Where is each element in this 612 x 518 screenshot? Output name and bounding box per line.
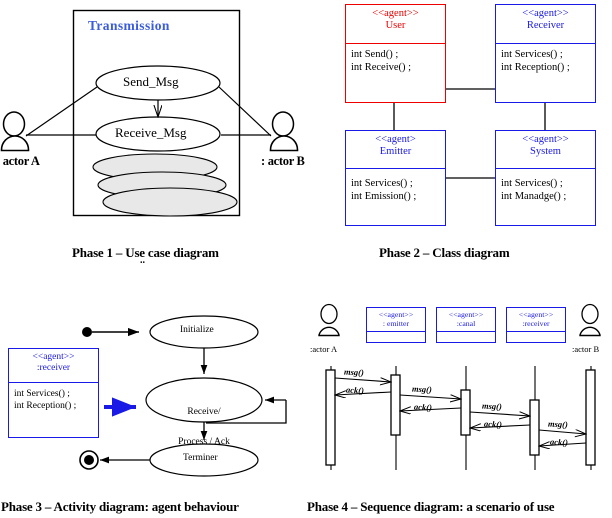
- lifeline-header-receiver: <<agent>> :receiver: [507, 308, 565, 332]
- message-label-msg-1: msg(): [344, 366, 364, 377]
- class-operation: int Services() ;: [501, 177, 590, 190]
- class-name-system: System: [496, 146, 595, 158]
- lifeline-head-receiver[interactable]: <<agent>> :receiver: [506, 307, 566, 343]
- lifeline-head-canal[interactable]: <<agent>> :canal: [436, 307, 496, 343]
- class-name-emitter: Emitter: [346, 146, 445, 158]
- activity-label-line2: Process / Ack: [170, 438, 238, 448]
- lifeline-stereotype: <<agent>>: [437, 310, 495, 320]
- message-label-ack-3: ack(): [484, 419, 502, 430]
- class-operations-receiver: int Services() ; int Reception() ;: [496, 44, 595, 74]
- class-box-user[interactable]: <<agent>> User int Send() ; int Receive(…: [345, 4, 446, 103]
- lifeline-header-canal: <<agent>> :canal: [437, 308, 495, 332]
- package-name-transmission: Transmission: [88, 19, 170, 33]
- actor-a-label: : actor A: [0, 155, 40, 168]
- class-box-receiver[interactable]: <<agent>> Receiver int Services() ; int …: [495, 4, 596, 103]
- class-stereotype-receiver: <<agent>>: [496, 8, 595, 20]
- class-operation: int Services() ;: [501, 48, 590, 61]
- lifeline-instance-name: :receiver: [507, 319, 565, 329]
- phase4-actor-b-label: :actor B: [572, 345, 599, 354]
- class-header-emitter: <<agent> Emitter: [346, 131, 445, 169]
- phase1-caption-artifact: ..: [140, 256, 145, 267]
- actor-b-figure: [271, 112, 298, 151]
- class-box-emitter[interactable]: <<agent> Emitter int Services() ; int Em…: [345, 130, 446, 226]
- class-operations-user: int Send() ; int Receive() ;: [346, 44, 445, 74]
- activity-label-initialize: Initialize: [180, 326, 214, 336]
- lifeline-instance-name: :canal: [437, 319, 495, 329]
- class-header-system: <<agent>> System: [496, 131, 595, 169]
- phase4-actor-b-figure: [580, 305, 600, 336]
- class-stereotype-system: <<agent>>: [496, 134, 595, 146]
- message-label-msg-2: msg(): [412, 383, 432, 394]
- use-case-label-receive-msg: Receive_Msg: [115, 126, 186, 140]
- class-operation: int Manadge() ;: [501, 190, 590, 203]
- class-operation: int Receive() ;: [351, 61, 440, 74]
- phase1-caption: Phase 1 – Use case diagram: [72, 246, 219, 260]
- class-operation: int Send() ;: [351, 48, 440, 61]
- lifeline-header-emitter: <<agent>> : emitter: [367, 308, 425, 332]
- agent-operation: int Services() ;: [14, 388, 93, 400]
- phase4-caption: Phase 4 – Sequence diagram: a scenario o…: [307, 500, 554, 514]
- activity-label-terminer: Terminer: [183, 454, 218, 464]
- agent-box-operations: int Services() ; int Reception() ;: [9, 383, 98, 412]
- class-operation: int Emission() ;: [351, 190, 440, 203]
- class-name-receiver: Receiver: [496, 20, 595, 32]
- lifeline-stereotype: <<agent>>: [367, 310, 425, 320]
- class-operations-emitter: int Services() ; int Emission() ;: [346, 169, 445, 203]
- phase2-caption: Phase 2 – Class diagram: [379, 246, 509, 260]
- message-label-msg-4: msg(): [548, 418, 568, 429]
- agent-instance-name: :receiver: [9, 363, 98, 374]
- class-stereotype-user: <<agent>>: [346, 8, 445, 20]
- lifeline-body: [367, 332, 425, 343]
- phase4-activation-bars: [326, 370, 595, 465]
- lifeline-head-emitter[interactable]: <<agent>> : emitter: [366, 307, 426, 343]
- phase4-actor-a-figure: [319, 305, 339, 336]
- phase3-caption: Phase 3 – Activity diagram: agent behavi…: [1, 500, 239, 514]
- start-node: [82, 327, 92, 337]
- class-header-receiver: <<agent>> Receiver: [496, 5, 595, 44]
- class-operations-system: int Services() ; int Manadge() ;: [496, 169, 595, 203]
- class-stereotype-emitter: <<agent>: [346, 134, 445, 146]
- message-label-ack-2: ack(): [414, 402, 432, 413]
- message-label-ack-4: ack(): [550, 437, 568, 448]
- agent-box-receiver[interactable]: <<agent>> :receiver int Services() ; int…: [8, 348, 99, 438]
- diagram-canvas: Transmission Send_Msg Receive_Msg : acto…: [0, 0, 612, 518]
- message-label-ack-1: ack(): [346, 385, 364, 396]
- phase4-actor-a-label: :actor A: [310, 345, 337, 354]
- actor-b-label: : actor B: [261, 155, 305, 168]
- lifeline-instance-name: : emitter: [367, 319, 425, 329]
- class-name-user: User: [346, 20, 445, 32]
- agent-operation: int Reception() ;: [14, 400, 93, 412]
- class-header-user: <<agent>> User: [346, 5, 445, 44]
- use-case-label-send-msg: Send_Msg: [123, 75, 179, 89]
- lifeline-stereotype: <<agent>>: [507, 310, 565, 320]
- stacked-use-case-ellipses: [93, 154, 237, 216]
- class-box-system[interactable]: <<agent>> System int Services() ; int Ma…: [495, 130, 596, 226]
- class-operation: int Reception() ;: [501, 61, 590, 74]
- agent-stereotype: <<agent>>: [9, 352, 98, 363]
- lifeline-body: [437, 332, 495, 343]
- class-operation: int Services() ;: [351, 177, 440, 190]
- activity-label-line1: Receive/: [170, 408, 238, 418]
- agent-box-header: <<agent>> :receiver: [9, 349, 98, 383]
- message-label-msg-3: msg(): [482, 400, 502, 411]
- actor-a-figure: [2, 112, 29, 151]
- lifeline-body: [507, 332, 565, 343]
